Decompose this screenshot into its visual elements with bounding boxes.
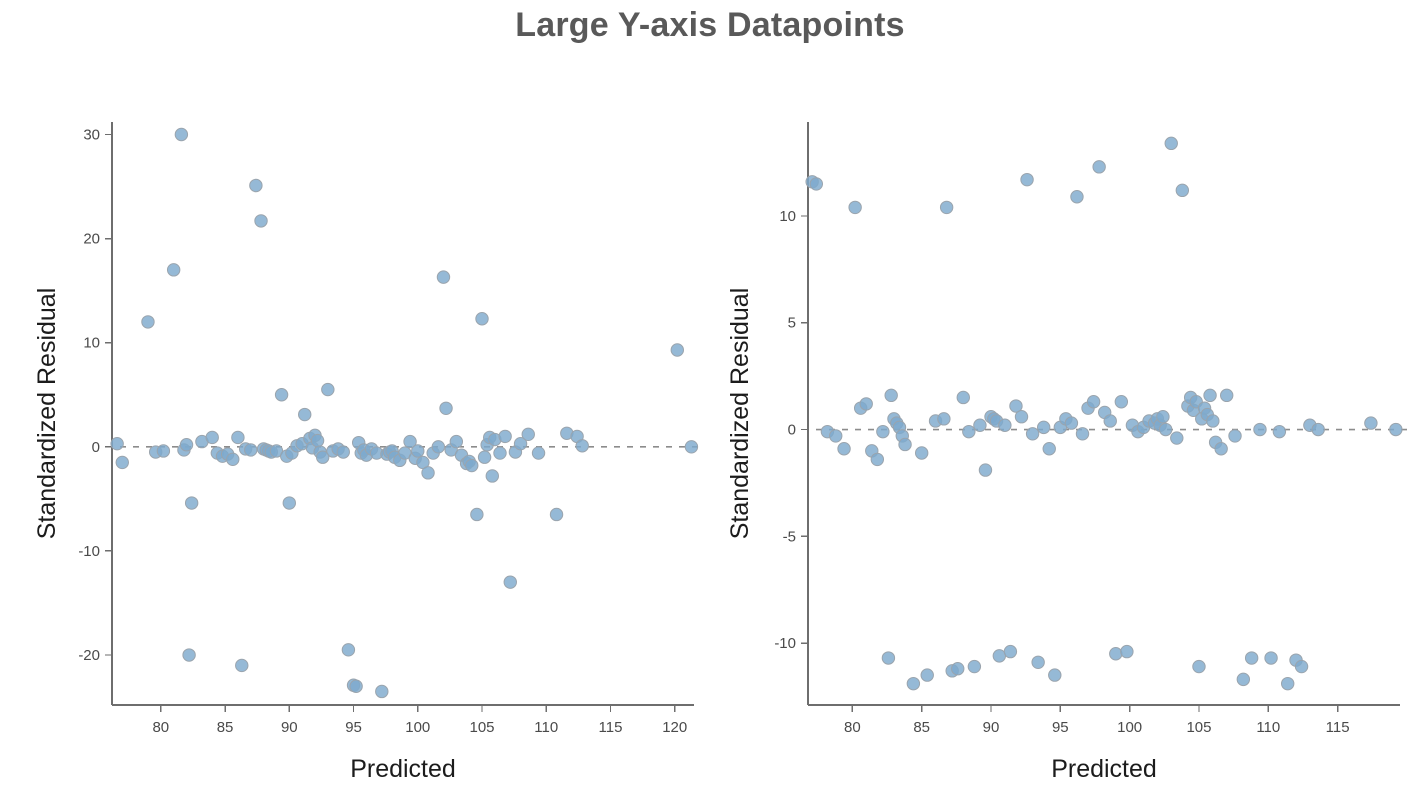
data-point: [486, 470, 498, 482]
left-scatter-panel: 3020100-10-2080859095100105110115120Pred…: [0, 100, 710, 800]
y-tick-label: -5: [783, 528, 796, 545]
chart-page: Large Y-axis Datapoints 3020100-10-20808…: [0, 0, 1420, 810]
data-point: [1171, 432, 1183, 444]
data-point: [1160, 423, 1172, 435]
data-point: [322, 383, 334, 395]
data-point: [1365, 417, 1377, 429]
x-tick-label: 105: [469, 719, 494, 736]
data-point: [142, 316, 154, 328]
data-point: [185, 497, 197, 509]
data-point: [532, 447, 544, 459]
data-point: [1004, 645, 1016, 657]
data-point: [1295, 660, 1307, 672]
data-point: [882, 652, 894, 664]
data-point: [871, 453, 883, 465]
x-tick-label: 80: [152, 719, 169, 736]
x-tick-label: 95: [345, 719, 362, 736]
data-point: [167, 264, 179, 276]
data-point: [993, 650, 1005, 662]
data-point: [1065, 417, 1077, 429]
right-scatter-panel: 1050-5-1080859095100105110115PredictedSt…: [710, 100, 1420, 800]
data-point: [1237, 673, 1249, 685]
data-point: [1193, 660, 1205, 672]
data-point: [685, 441, 697, 453]
data-point: [957, 391, 969, 403]
data-point: [999, 419, 1011, 431]
y-tick-label: 30: [83, 126, 100, 143]
data-point: [576, 440, 588, 452]
data-point: [275, 389, 287, 401]
data-point: [412, 445, 424, 457]
data-point: [283, 497, 295, 509]
y-tick-label: 0: [788, 422, 796, 439]
x-tick-label: 95: [1052, 719, 1069, 736]
data-point: [1093, 161, 1105, 173]
x-axis-title: Predicted: [350, 755, 456, 783]
data-point: [1104, 415, 1116, 427]
y-tick-label: -10: [774, 635, 796, 652]
y-tick-label: -10: [78, 543, 100, 560]
data-point: [877, 425, 889, 437]
data-point: [1229, 430, 1241, 442]
data-point: [1273, 425, 1285, 437]
data-point: [671, 344, 683, 356]
data-point: [1015, 411, 1027, 423]
data-point: [342, 644, 354, 656]
x-tick-label: 115: [1326, 719, 1350, 736]
data-point: [1037, 421, 1049, 433]
data-point: [940, 201, 952, 213]
data-point: [111, 437, 123, 449]
data-point: [1282, 677, 1294, 689]
x-tick-label: 90: [281, 719, 298, 736]
data-point: [550, 508, 562, 520]
data-point: [376, 685, 388, 697]
left-plot-svg: 3020100-10-2080859095100105110115120Pred…: [0, 100, 710, 800]
data-point: [236, 659, 248, 671]
x-tick-label: 100: [1117, 719, 1142, 736]
data-point: [299, 408, 311, 420]
data-point: [255, 215, 267, 227]
data-point: [952, 663, 964, 675]
data-point: [1245, 652, 1257, 664]
data-point: [1087, 396, 1099, 408]
data-point: [350, 680, 362, 692]
page-title: Large Y-axis Datapoints: [0, 6, 1420, 45]
data-point: [1115, 396, 1127, 408]
data-point: [1390, 423, 1402, 435]
y-tick-label: -20: [78, 647, 100, 664]
x-tick-label: 110: [1256, 719, 1280, 736]
y-tick-label: 10: [779, 208, 796, 225]
data-point: [849, 201, 861, 213]
x-tick-label: 85: [217, 719, 234, 736]
data-point: [422, 467, 434, 479]
data-point: [838, 443, 850, 455]
y-tick-label: 20: [83, 231, 100, 248]
data-point: [499, 430, 511, 442]
data-point: [1071, 191, 1083, 203]
data-point: [440, 402, 452, 414]
data-point: [1204, 389, 1216, 401]
y-tick-label: 10: [83, 335, 100, 352]
data-point: [337, 446, 349, 458]
data-point: [1207, 415, 1219, 427]
data-point: [450, 435, 462, 447]
data-point: [504, 576, 516, 588]
x-tick-label: 85: [913, 719, 930, 736]
data-point: [250, 179, 262, 191]
data-point: [1021, 173, 1033, 185]
data-point: [915, 447, 927, 459]
data-point-group: [806, 137, 1402, 690]
data-point: [478, 451, 490, 463]
data-point: [1043, 443, 1055, 455]
data-point: [116, 456, 128, 468]
data-point: [1049, 669, 1061, 681]
x-tick-label: 120: [662, 719, 687, 736]
data-point: [311, 434, 323, 446]
data-point: [476, 313, 488, 325]
data-point: [1221, 389, 1233, 401]
data-point: [432, 441, 444, 453]
y-tick-label: 5: [788, 315, 796, 332]
data-point: [810, 178, 822, 190]
x-tick-label: 80: [844, 719, 861, 736]
data-point: [1176, 184, 1188, 196]
y-axis-title: Standardized Residual: [726, 288, 754, 540]
data-point: [1254, 423, 1266, 435]
y-axis-title: Standardized Residual: [33, 288, 61, 540]
data-point: [1076, 428, 1088, 440]
x-tick-label: 110: [534, 719, 558, 736]
data-point: [1265, 652, 1277, 664]
data-point: [1165, 137, 1177, 149]
data-point: [1026, 428, 1038, 440]
x-tick-label: 90: [983, 719, 1000, 736]
x-tick-label: 100: [405, 719, 430, 736]
data-point: [466, 459, 478, 471]
data-point: [232, 431, 244, 443]
x-tick-label: 115: [599, 719, 623, 736]
data-point: [1110, 648, 1122, 660]
data-point: [1157, 411, 1169, 423]
data-point: [175, 128, 187, 140]
data-point: [227, 453, 239, 465]
data-point: [1032, 656, 1044, 668]
data-point: [494, 447, 506, 459]
data-point: [1121, 645, 1133, 657]
data-point: [522, 428, 534, 440]
data-point: [974, 419, 986, 431]
data-point: [180, 439, 192, 451]
data-point: [830, 430, 842, 442]
data-point: [968, 660, 980, 672]
data-point: [1215, 443, 1227, 455]
x-tick-label: 105: [1186, 719, 1211, 736]
x-axis-title: Predicted: [1051, 755, 1157, 783]
data-point: [907, 677, 919, 689]
data-point: [183, 649, 195, 661]
data-point: [437, 271, 449, 283]
data-point-group: [111, 128, 698, 697]
data-point: [157, 445, 169, 457]
data-point: [245, 444, 257, 456]
data-point: [471, 508, 483, 520]
data-point: [206, 431, 218, 443]
y-tick-label: 0: [92, 439, 100, 456]
data-point: [938, 413, 950, 425]
right-plot-svg: 1050-5-1080859095100105110115PredictedSt…: [710, 100, 1420, 800]
data-point: [1312, 423, 1324, 435]
data-point: [899, 438, 911, 450]
data-point: [885, 389, 897, 401]
data-point: [963, 425, 975, 437]
data-point: [860, 398, 872, 410]
data-point: [921, 669, 933, 681]
data-point: [979, 464, 991, 476]
